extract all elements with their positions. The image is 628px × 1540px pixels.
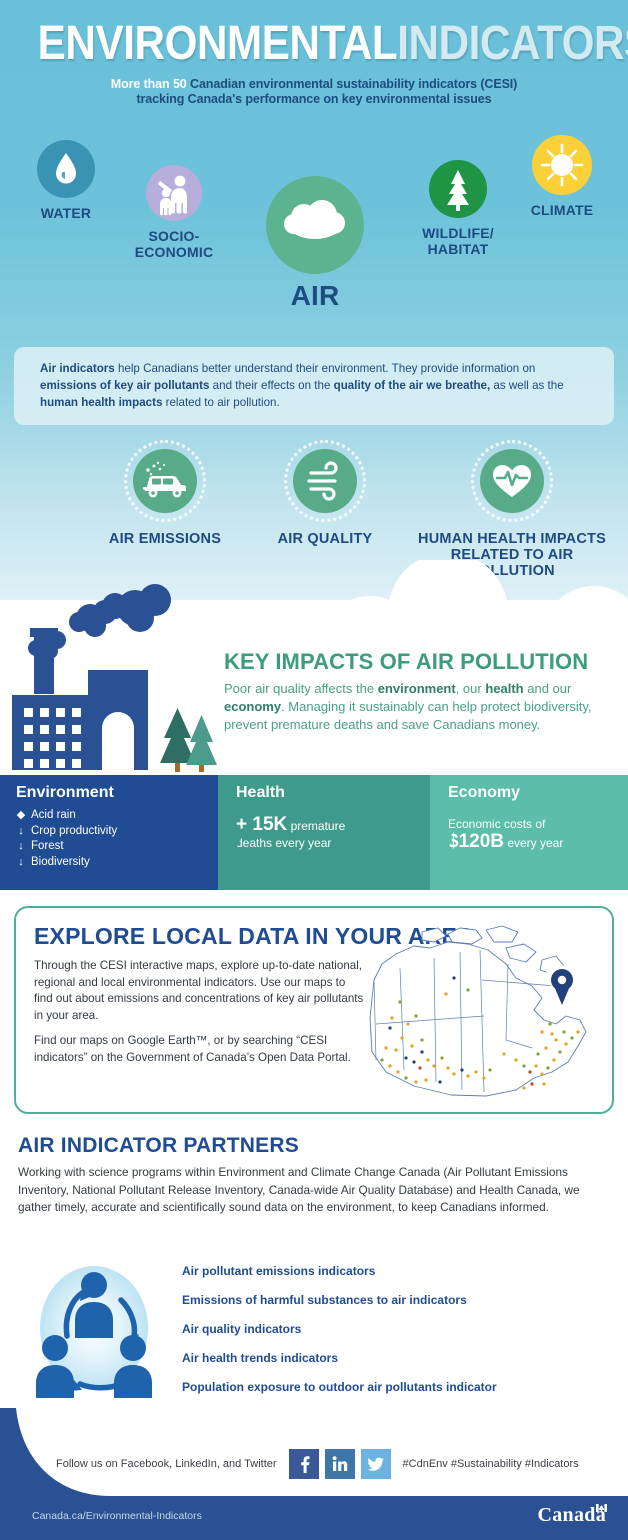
health-stat-value: + 15K xyxy=(236,814,287,835)
social-icon-group xyxy=(289,1449,391,1479)
economy-stat-prefix: Economic costs of xyxy=(448,817,545,831)
wind-icon xyxy=(293,449,357,513)
theme-air-quality[interactable]: AIR QUALITY xyxy=(245,440,405,547)
facebook-icon[interactable] xyxy=(289,1449,319,1479)
canada-wordmark: Canada xyxy=(537,1504,606,1527)
intro-seg-5: quality of the air we breathe, xyxy=(334,379,491,392)
partners-section: AIR INDICATOR PARTNERS Working with scie… xyxy=(18,1134,614,1217)
list-item[interactable]: Emissions of harmful substances to air i… xyxy=(182,1293,612,1308)
canada-map[interactable] xyxy=(356,920,606,1110)
panel-economy-title: Economy xyxy=(448,784,628,802)
environment-bullet-list: ◆Acid rain ↓Crop productivity ↓Forest ↓B… xyxy=(16,808,218,870)
category-socio-economic[interactable]: SOCIO- ECONOMIC xyxy=(128,165,220,260)
subtitle-line-two: tracking Canada's performance on key env… xyxy=(0,92,628,107)
infographic-page: ENVIRONMENTALINDICATORS More than 50 Can… xyxy=(0,0,628,1540)
key-impacts-body: Poor air quality affects the environment… xyxy=(224,680,604,734)
subtitle-line-one: Canadian environmental sustainability in… xyxy=(190,77,517,91)
theme-air-quality-label: AIR QUALITY xyxy=(245,531,405,547)
hashtags: #CdnEnv #Sustainability #Indicators xyxy=(403,1458,579,1470)
subtitle-count: More than 50 xyxy=(111,77,187,91)
footer-url[interactable]: Canada.ca/Environmental-Indicators xyxy=(32,1510,202,1522)
car-emissions-icon xyxy=(133,449,197,513)
explore-map-card[interactable]: EXPLORE LOCAL DATA IN YOUR AREA Through … xyxy=(14,906,614,1114)
follow-text: Follow us on Facebook, LinkedIn, and Twi… xyxy=(56,1458,277,1470)
list-item: ◆Acid rain xyxy=(16,808,218,824)
health-stat-line1: premature xyxy=(287,819,345,833)
panel-environment-title: Environment xyxy=(16,784,218,802)
impact-panels: Environment ◆Acid rain ↓Crop productivit… xyxy=(0,775,628,890)
health-stat: + 15K premature deaths every year xyxy=(236,816,430,852)
indicator-list-section: Air pollutant emissions indicators Emiss… xyxy=(0,1258,628,1403)
water-drop-icon xyxy=(37,140,95,198)
intro-text-box: Air indicators help Canadians better und… xyxy=(14,347,614,425)
panel-environment: Environment ◆Acid rain ↓Crop productivit… xyxy=(0,775,218,890)
category-air-label: AIR xyxy=(256,280,374,312)
theme-air-emissions[interactable]: AIR EMISSIONS xyxy=(80,440,250,547)
list-item: ↓Biodiversity xyxy=(16,855,218,871)
panel-health: Health + 15K premature deaths every year xyxy=(218,775,430,890)
people-icon xyxy=(146,165,202,221)
intro-seg-1: Air indicators xyxy=(40,362,115,375)
theme-health-impacts[interactable]: HUMAN HEALTH IMPACTS RELATED TO AIR POLL… xyxy=(412,440,612,579)
theme-icon-row: AIR EMISSIONS AIR QUALITY xyxy=(0,440,628,580)
partners-heading: AIR INDICATOR PARTNERS xyxy=(18,1134,614,1158)
key-impacts-section: KEY IMPACTS OF AIR POLLUTION Poor air qu… xyxy=(224,650,604,734)
canada-flag-icon xyxy=(596,1495,607,1503)
ring-wrapper xyxy=(284,440,366,522)
people-circle-icon xyxy=(24,1258,164,1398)
category-air[interactable]: AIR xyxy=(256,176,374,312)
list-item[interactable]: Air quality indicators xyxy=(182,1322,612,1337)
category-socio-label: SOCIO- ECONOMIC xyxy=(128,228,220,260)
economy-stat: Economic costs of $120B every year xyxy=(448,816,628,852)
partners-paragraph: Working with science programs within Env… xyxy=(18,1164,614,1217)
list-item: ↓Forest xyxy=(16,839,218,855)
down-arrow-bullet-icon: ↓ xyxy=(16,824,26,840)
category-water[interactable]: WATER xyxy=(26,140,106,221)
economy-stat-value: $120B xyxy=(448,831,504,852)
intro-seg-3: emissions of key air pollutants xyxy=(40,379,209,392)
category-climate-label: CLIMATE xyxy=(516,202,608,218)
key-impacts-heading: KEY IMPACTS OF AIR POLLUTION xyxy=(224,650,604,674)
title-part-one: ENVIRONMENTAL xyxy=(38,17,398,70)
list-item[interactable]: Population exposure to outdoor air pollu… xyxy=(182,1380,612,1395)
heart-pulse-icon xyxy=(480,449,544,513)
intro-seg-6: as well as the xyxy=(490,379,563,392)
panel-economy: Economy Economic costs of $120B every ye… xyxy=(430,775,628,890)
category-icon-row: WATER SOCIO- ECONOMIC xyxy=(0,132,628,332)
list-item: ↓Crop productivity xyxy=(16,824,218,840)
ring-wrapper xyxy=(471,440,553,522)
category-wildlife-label: WILDLIFE/ HABITAT xyxy=(412,225,504,257)
ring-wrapper xyxy=(124,440,206,522)
health-stat-line2: deaths every year xyxy=(236,836,331,850)
linkedin-icon[interactable] xyxy=(325,1449,355,1479)
social-follow-row: Follow us on Facebook, LinkedIn, and Twi… xyxy=(56,1448,616,1480)
economy-stat-suffix: every year xyxy=(504,836,563,850)
intro-seg-7: human health impacts xyxy=(40,396,162,409)
droplet-bullet-icon: ◆ xyxy=(16,808,26,824)
down-arrow-bullet-icon: ↓ xyxy=(16,839,26,855)
page-header: ENVIRONMENTALINDICATORS More than 50 Can… xyxy=(0,18,628,107)
panel-health-title: Health xyxy=(236,784,430,802)
page-subtitle: More than 50 Canadian environmental sust… xyxy=(0,77,628,107)
category-climate[interactable]: CLIMATE xyxy=(516,135,608,218)
list-item[interactable]: Air health trends indicators xyxy=(182,1351,612,1366)
tree-icon xyxy=(429,160,487,218)
theme-air-emissions-label: AIR EMISSIONS xyxy=(80,531,250,547)
intro-seg-8: related to air pollution. xyxy=(162,396,279,409)
intro-seg-2: help Canadians better understand their e… xyxy=(115,362,536,375)
indicator-links-list: Air pollutant emissions indicators Emiss… xyxy=(182,1264,612,1409)
page-title: ENVIRONMENTALINDICATORS xyxy=(38,18,591,70)
cloud-icon xyxy=(266,176,364,274)
category-water-label: WATER xyxy=(26,205,106,221)
twitter-icon[interactable] xyxy=(361,1449,391,1479)
category-wildlife-habitat[interactable]: WILDLIFE/ HABITAT xyxy=(412,160,504,257)
title-part-two: INDICATORS xyxy=(397,17,628,70)
map-pin-icon xyxy=(546,964,573,1005)
down-arrow-bullet-icon: ↓ xyxy=(16,855,26,871)
sun-icon xyxy=(532,135,592,195)
intro-seg-4: and their effects on the xyxy=(209,379,333,392)
explore-map-paragraph-one: Through the CESI interactive maps, explo… xyxy=(34,958,364,1024)
list-item[interactable]: Air pollutant emissions indicators xyxy=(182,1264,612,1279)
explore-map-paragraph-two: Find our maps on Google Earth™, or by se… xyxy=(34,1033,364,1066)
